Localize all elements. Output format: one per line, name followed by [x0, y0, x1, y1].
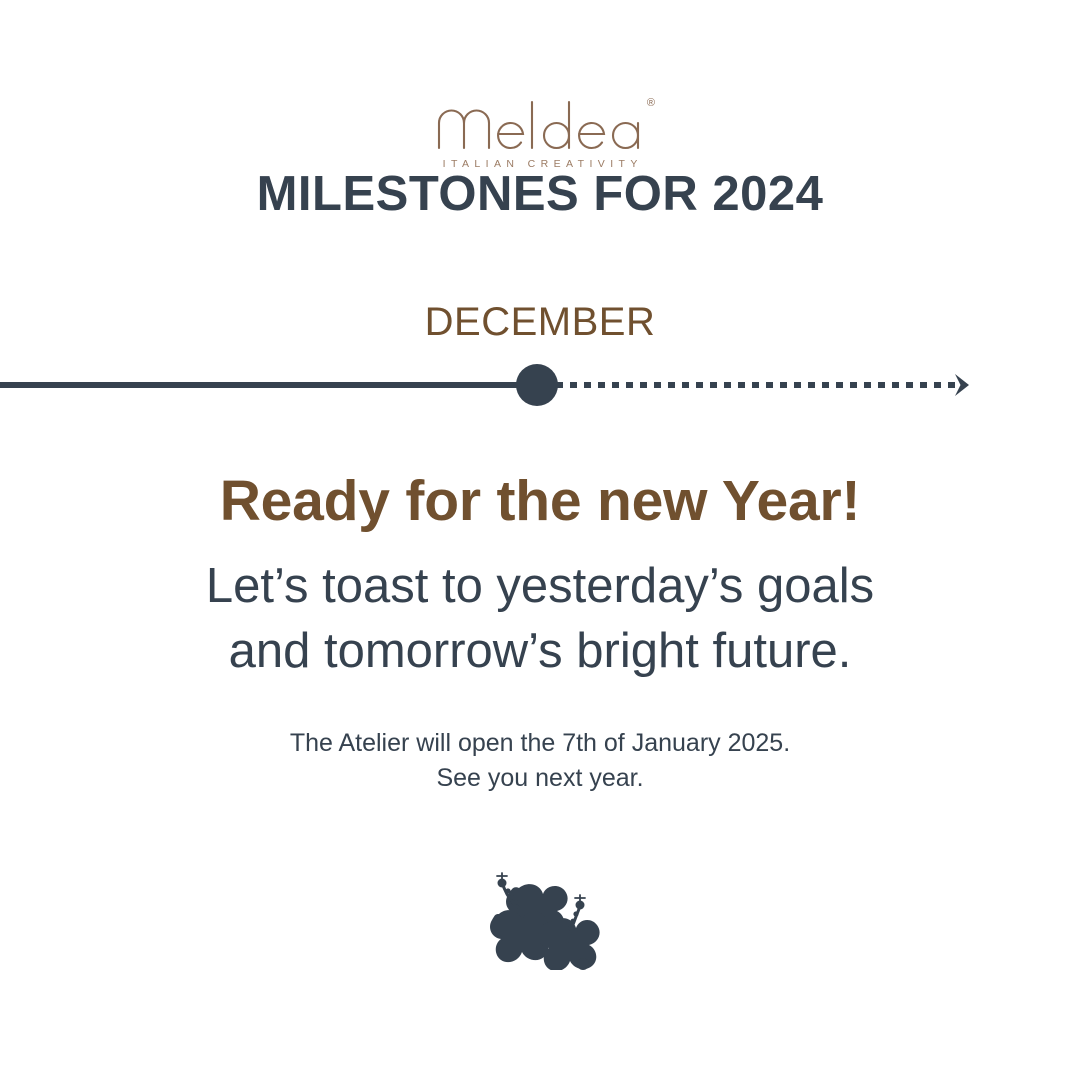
timeline-elapsed-line: [0, 382, 541, 388]
headline: Ready for the new Year!: [0, 470, 1080, 533]
page-title: MILESTONES FOR 2024: [0, 168, 1080, 222]
body-copy-line: The Atelier will open the 7th of January…: [0, 726, 1080, 761]
timeline-current-marker: [516, 364, 558, 406]
poster-canvas: ® ITALIAN CREATIVITY MILESTONES FOR 2024…: [0, 0, 1080, 1080]
subheadline-line: and tomorrow’s bright future.: [0, 619, 1080, 684]
body-copy: The Atelier will open the 7th of January…: [0, 726, 1080, 795]
body-copy-line: See you next year.: [0, 761, 1080, 796]
brand-logo: ® ITALIAN CREATIVITY: [0, 96, 1080, 170]
subheadline-line: Let’s toast to yesterday’s goals: [0, 554, 1080, 619]
hibiscus-flower-icon: [0, 872, 1080, 970]
logo-wordmark-wrap: ®: [437, 96, 643, 154]
timeline-remaining-line: [556, 382, 956, 388]
registered-trademark-icon: ®: [647, 98, 655, 109]
arrow-right-icon: [952, 372, 974, 398]
meidea-wordmark-icon: [437, 96, 643, 150]
timeline: [0, 362, 1080, 414]
timeline-month-label: DECEMBER: [0, 300, 1080, 344]
subheadline: Let’s toast to yesterday’s goals and tom…: [0, 554, 1080, 683]
